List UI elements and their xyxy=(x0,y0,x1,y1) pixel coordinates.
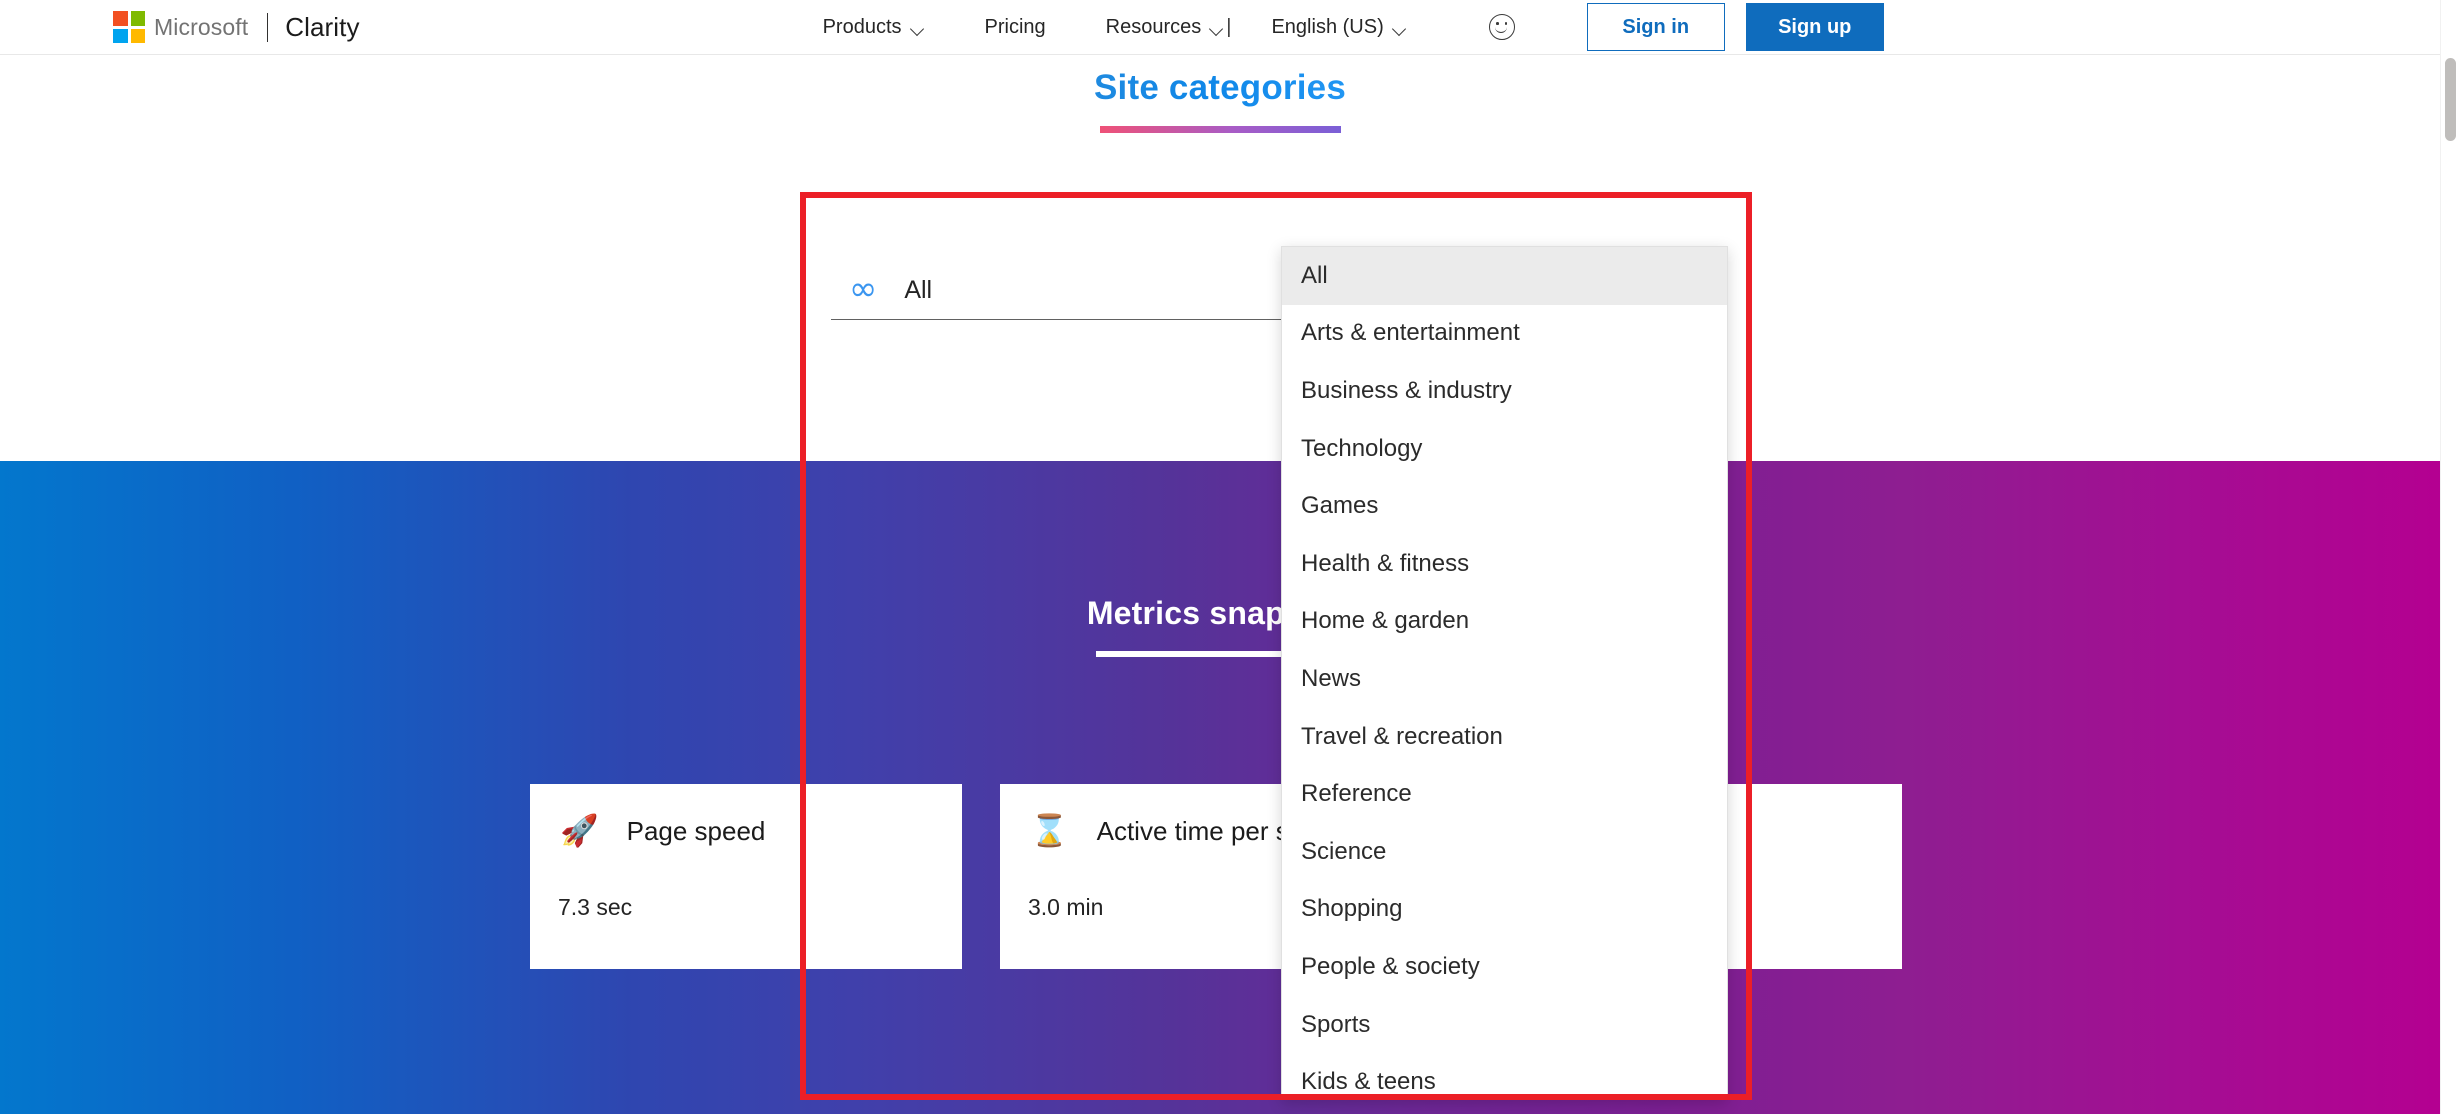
metric-card-value: 7.3 sec xyxy=(558,894,632,921)
sign-in-button[interactable]: Sign in xyxy=(1587,3,1725,51)
page-root: Microsoft Clarity Products Pricing Resou… xyxy=(0,0,2458,1114)
metric-card-value: 3.0 min xyxy=(1028,894,1103,921)
brand-product-text: Clarity xyxy=(285,12,359,43)
site-categories-section-header: Site categories xyxy=(0,68,2440,133)
title-underline-accent xyxy=(1100,126,1341,133)
primary-nav-links: Products Pricing Resources | English (US… xyxy=(823,10,1407,45)
brand-divider xyxy=(267,13,268,42)
nav-item-resources-label: Resources xyxy=(1106,16,1202,39)
page-title: Site categories xyxy=(1094,68,1346,108)
dropdown-option-home-garden[interactable]: Home & garden xyxy=(1282,593,1727,651)
dropdown-option-sports[interactable]: Sports xyxy=(1282,996,1727,1054)
rocket-icon: 🚀 xyxy=(560,816,599,847)
nav-item-pricing[interactable]: Pricing xyxy=(985,10,1046,45)
dropdown-option-kids-teens[interactable]: Kids & teens xyxy=(1282,1053,1727,1100)
dropdown-option-reference[interactable]: Reference xyxy=(1282,765,1727,823)
category-selector-value: All xyxy=(904,276,932,305)
infinity-icon: ∞ xyxy=(849,272,877,306)
top-navigation-bar: Microsoft Clarity Products Pricing Resou… xyxy=(0,0,2440,55)
metric-card-header: 🚀 Page speed xyxy=(530,784,962,847)
chevron-down-icon xyxy=(1211,24,1224,32)
brand-lockup[interactable]: Microsoft Clarity xyxy=(113,11,360,43)
dropdown-option-science[interactable]: Science xyxy=(1282,823,1727,881)
dropdown-option-technology[interactable]: Technology xyxy=(1282,420,1727,478)
nav-item-pricing-label: Pricing xyxy=(985,16,1046,39)
metric-card-page-speed: 🚀 Page speed 7.3 sec xyxy=(530,784,962,969)
category-dropdown-menu[interactable]: All Arts & entertainment Business & indu… xyxy=(1281,246,1728,1100)
dropdown-option-all[interactable]: All xyxy=(1282,247,1727,305)
sign-up-button[interactable]: Sign up xyxy=(1746,3,1884,51)
banner-title: Metrics snapshot xyxy=(0,595,2440,632)
nav-actions: Sign in Sign up xyxy=(1443,3,1884,51)
nav-item-resources[interactable]: Resources xyxy=(1106,10,1225,45)
dropdown-option-arts-entertainment[interactable]: Arts & entertainment xyxy=(1282,305,1727,363)
hourglass-icon: ⌛ xyxy=(1030,816,1069,847)
chevron-down-icon xyxy=(1394,24,1407,32)
language-selector[interactable]: English (US) xyxy=(1271,10,1406,45)
dropdown-option-news[interactable]: News xyxy=(1282,650,1727,708)
banner-header: Metrics snapshot xyxy=(0,595,2440,657)
nav-divider: | xyxy=(1226,16,1231,39)
language-selector-label: English (US) xyxy=(1271,16,1383,39)
metrics-snapshot-banner: Metrics snapshot 🚀 Page speed 7.3 sec ⌛ … xyxy=(0,461,2440,1114)
nav-item-products[interactable]: Products xyxy=(823,10,925,45)
brand-microsoft-text: Microsoft xyxy=(154,14,248,41)
dropdown-option-games[interactable]: Games xyxy=(1282,477,1727,535)
dropdown-option-people-society[interactable]: People & society xyxy=(1282,938,1727,996)
scrollbar-thumb[interactable] xyxy=(2445,58,2456,141)
dropdown-option-travel-recreation[interactable]: Travel & recreation xyxy=(1282,708,1727,766)
microsoft-logo-icon xyxy=(113,11,145,43)
smiley-eye-left xyxy=(1496,22,1499,25)
nav-item-products-label: Products xyxy=(823,16,902,39)
smiley-face-icon[interactable] xyxy=(1489,14,1515,40)
smiley-eye-right xyxy=(1505,22,1508,25)
dropdown-option-health-fitness[interactable]: Health & fitness xyxy=(1282,535,1727,593)
smiley-mouth xyxy=(1495,26,1507,33)
vertical-scrollbar[interactable] xyxy=(2440,0,2458,1114)
dropdown-option-business-industry[interactable]: Business & industry xyxy=(1282,362,1727,420)
metric-card-label: Page speed xyxy=(627,816,766,847)
chevron-down-icon xyxy=(912,24,925,32)
dropdown-option-shopping[interactable]: Shopping xyxy=(1282,881,1727,939)
